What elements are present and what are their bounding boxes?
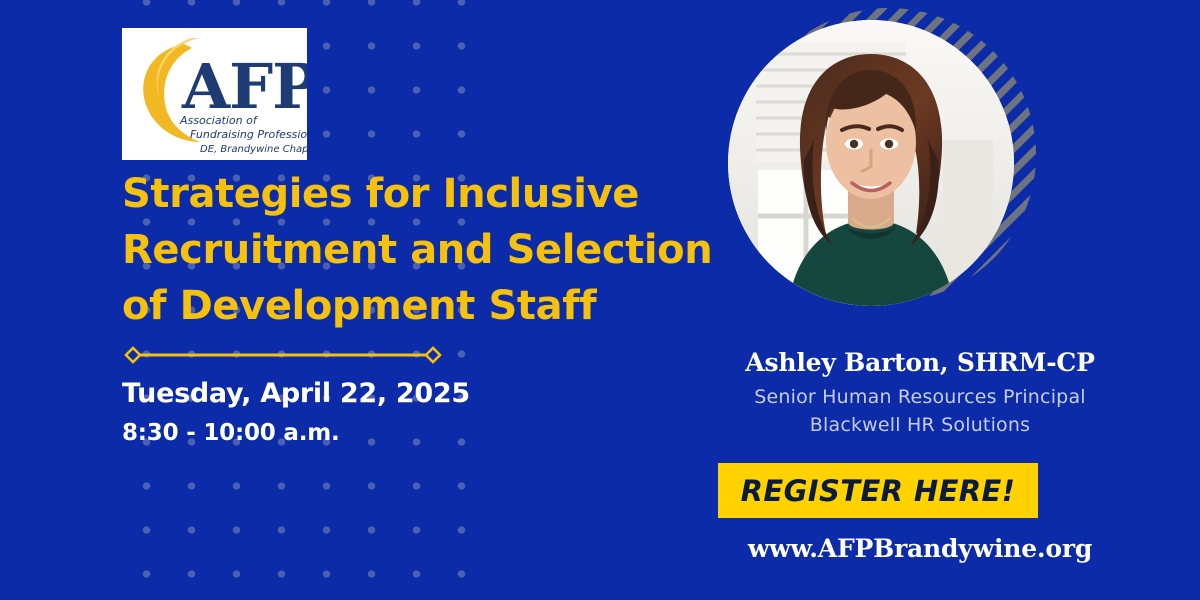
event-promo-poster: AFP Association of Fundraising Professio…	[0, 0, 1200, 600]
event-time: 8:30 - 10:00 a.m.	[122, 420, 340, 446]
event-title: Strategies for Inclusive Recruitment and…	[122, 166, 697, 334]
register-button[interactable]: REGISTER HERE!	[718, 463, 1038, 518]
speaker-organization: Blackwell HR Solutions	[640, 414, 1200, 436]
event-title-line-2: Recruitment and Selection	[122, 222, 697, 278]
event-title-line-1: Strategies for Inclusive	[122, 166, 697, 222]
event-title-line-3: of Development Staff	[122, 278, 697, 334]
speaker-name: Ashley Barton, SHRM-CP	[640, 348, 1200, 377]
decorative-divider	[124, 345, 442, 365]
svg-text:DE, Brandywine Chapter: DE, Brandywine Chapter	[200, 144, 307, 155]
afp-logo: AFP Association of Fundraising Professio…	[122, 28, 307, 160]
svg-text:AFP: AFP	[181, 50, 307, 123]
left-content-column: AFP Association of Fundraising Professio…	[120, 0, 700, 600]
svg-text:Association of: Association of	[179, 114, 259, 127]
event-date: Tuesday, April 22, 2025	[122, 378, 470, 409]
speaker-role: Senior Human Resources Principal	[640, 386, 1200, 408]
svg-text:Fundraising Professionals: Fundraising Professionals	[190, 128, 307, 141]
speaker-photo	[728, 20, 1014, 306]
register-button-label: REGISTER HERE!	[741, 474, 1016, 508]
speaker-headshot-image	[728, 20, 1014, 306]
website-link[interactable]: www.AFPBrandywine.org	[640, 534, 1200, 563]
afp-logo-graphic: AFP Association of Fundraising Professio…	[122, 28, 307, 160]
right-content-column: Ashley Barton, SHRM-CP Senior Human Reso…	[640, 0, 1200, 600]
divider-line-with-diamonds	[124, 345, 442, 365]
